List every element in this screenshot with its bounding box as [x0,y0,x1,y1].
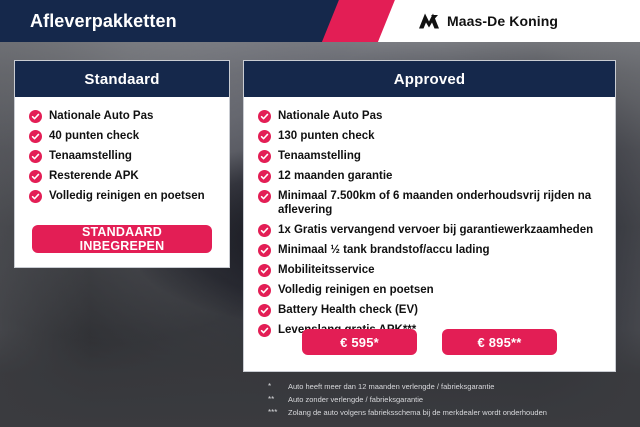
card-header-approved: Approved [244,61,615,97]
check-circle-icon [258,244,271,257]
card-title-approved: Approved [394,71,466,88]
list-item: 40 punten check [29,129,219,143]
feature-label: Tenaamstelling [278,149,361,163]
list-item: Battery Health check (EV) [258,303,605,317]
brand-logo: Maas-De Koning [418,0,558,42]
check-circle-icon [29,190,42,203]
feature-label: Battery Health check (EV) [278,303,418,317]
check-circle-icon [258,130,271,143]
check-circle-icon [29,130,42,143]
check-circle-icon [258,304,271,317]
check-circle-icon [29,170,42,183]
feature-list-standaard: Nationale Auto Pas 40 punten check Tenaa… [15,109,229,203]
footnote-row: ** Auto zonder verlengde / fabrieksgaran… [268,394,628,405]
slide-root: Afleverpakketten Maas-De Koning Standaar… [0,0,640,427]
feature-label: Volledig reinigen en poetsen [49,189,205,203]
feature-label: Volledig reinigen en poetsen [278,283,434,297]
footnote-text: Zolang de auto volgens fabrieksschema bi… [288,407,547,418]
footnotes-block: * Auto heeft meer dan 12 maanden verleng… [268,381,628,420]
package-card-approved: Approved Nationale Auto Pas 130 punten c [243,60,616,372]
list-item: Volledig reinigen en poetsen [29,189,219,203]
feature-label: Mobiliteitsservice [278,263,375,277]
check-circle-icon [258,150,271,163]
check-circle-icon [258,190,271,203]
card-body-approved: Nationale Auto Pas 130 punten check Tena… [244,97,615,337]
list-item: Mobiliteitsservice [258,263,605,277]
brand-name: Maas-De Koning [447,13,558,29]
footnote-text: Auto zonder verlengde / fabrieksgarantie [288,394,423,405]
check-circle-icon [29,110,42,123]
check-circle-icon [258,224,271,237]
feature-label: Minimaal ½ tank brandstof/accu lading [278,243,490,257]
list-item: 1x Gratis vervangend vervoer bij garanti… [258,223,605,237]
footnote-marker: ** [268,394,288,405]
price-button-row: € 595* € 895** [244,329,615,355]
feature-label: Minimaal 7.500km of 6 maanden onderhouds… [278,189,605,217]
list-item: Nationale Auto Pas [258,109,605,123]
card-header-standaard: Standaard [15,61,229,97]
check-circle-icon [29,150,42,163]
list-item: Nationale Auto Pas [29,109,219,123]
feature-label: Nationale Auto Pas [49,109,153,123]
maas-de-koning-logo-icon [418,12,440,30]
list-item: Minimaal 7.500km of 6 maanden onderhouds… [258,189,605,217]
card-title-standaard: Standaard [84,71,159,88]
footnote-row: *** Zolang de auto volgens fabrieksschem… [268,407,628,418]
feature-label: Nationale Auto Pas [278,109,382,123]
list-item: Tenaamstelling [29,149,219,163]
feature-list-approved: Nationale Auto Pas 130 punten check Tena… [244,109,615,337]
standaard-inbegrepen-button[interactable]: STANDAARD INBEGREPEN [32,225,212,253]
check-circle-icon [258,284,271,297]
feature-label: 130 punten check [278,129,375,143]
check-circle-icon [258,170,271,183]
page-header: Afleverpakketten Maas-De Koning [0,0,640,42]
list-item: Minimaal ½ tank brandstof/accu lading [258,243,605,257]
package-card-standaard: Standaard Nationale Auto Pas 40 punten c [14,60,230,268]
footnote-marker: *** [268,407,288,418]
list-item: 130 punten check [258,129,605,143]
list-item: Tenaamstelling [258,149,605,163]
list-item: Resterende APK [29,169,219,183]
footnote-marker: * [268,381,288,392]
page-title: Afleverpakketten [30,0,177,42]
card-body-standaard: Nationale Auto Pas 40 punten check Tenaa… [15,97,229,203]
list-item: 12 maanden garantie [258,169,605,183]
price-button-595[interactable]: € 595* [302,329,417,355]
price-button-895[interactable]: € 895** [442,329,557,355]
footnote-row: * Auto heeft meer dan 12 maanden verleng… [268,381,628,392]
feature-label: Resterende APK [49,169,139,183]
check-circle-icon [258,110,271,123]
feature-label: 1x Gratis vervangend vervoer bij garanti… [278,223,593,237]
feature-label: 40 punten check [49,129,139,143]
feature-label: Tenaamstelling [49,149,132,163]
footnote-text: Auto heeft meer dan 12 maanden verlengde… [288,381,494,392]
feature-label: 12 maanden garantie [278,169,392,183]
list-item: Volledig reinigen en poetsen [258,283,605,297]
check-circle-icon [258,264,271,277]
